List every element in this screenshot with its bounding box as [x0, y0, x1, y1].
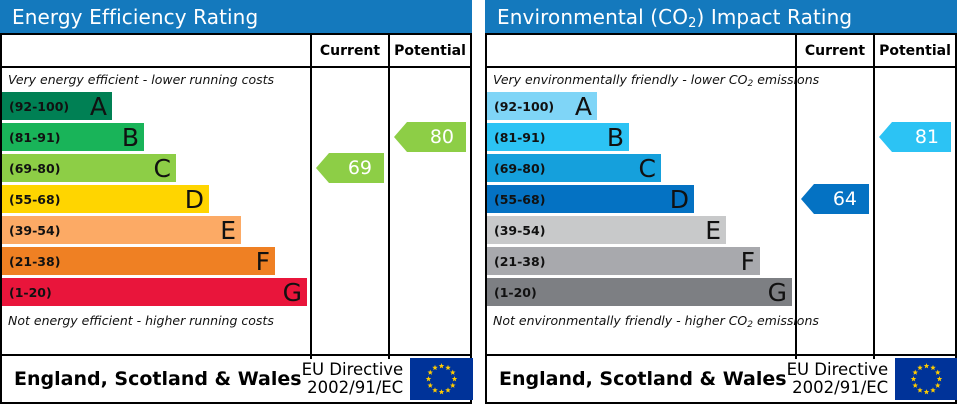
table-body: Very energy efficient - lower running co… — [2, 68, 470, 359]
header-blank-cell — [2, 35, 310, 66]
band-row-d: (55-68)D — [2, 185, 209, 213]
band-row-f: (21-38)F — [487, 247, 760, 275]
band-letter-label: D — [185, 187, 204, 212]
eu-flag-icon — [410, 358, 473, 400]
band-range-label: (92-100) — [9, 99, 69, 114]
note-bottom: Not environmentally friendly - higher CO… — [487, 309, 795, 331]
band-bar-e: (39-54)E — [2, 216, 241, 244]
band-letter-label: D — [670, 187, 689, 212]
band-bar-c: (69-80)C — [487, 154, 661, 182]
table-header-row: Current Potential — [487, 35, 955, 68]
band-letter-label: C — [154, 156, 171, 181]
note-bottom: Not energy efficient - higher running co… — [2, 309, 310, 331]
band-range-label: (39-54) — [9, 223, 60, 238]
header-current: Current — [310, 35, 388, 66]
eu-flag-icon — [895, 358, 957, 400]
epc-charts-page: Energy Efficiency Rating Current Potenti… — [0, 0, 957, 404]
rating-table: Current Potential Very environmentally f… — [485, 33, 957, 404]
band-letter-label: A — [90, 94, 107, 119]
band-range-label: (21-38) — [494, 254, 545, 269]
potential-rating-arrow: 80 — [394, 122, 466, 152]
note-top: Very environmentally friendly - lower CO… — [487, 68, 795, 90]
band-row-a: (92-100)A — [2, 92, 112, 120]
band-letter-label: B — [122, 125, 139, 150]
band-range-label: (92-100) — [494, 99, 554, 114]
rating-table: Current Potential Very energy efficient … — [0, 33, 472, 404]
table-header-row: Current Potential — [2, 35, 470, 68]
chart-title-bar: Environmental (CO2) Impact Rating — [485, 0, 957, 33]
environmental-impact-chart: Environmental (CO2) Impact Rating Curren… — [485, 0, 957, 404]
band-letter-label: F — [741, 249, 755, 274]
chart-title-bar: Energy Efficiency Rating — [0, 0, 472, 33]
header-current: Current — [795, 35, 873, 66]
band-row-e: (39-54)E — [487, 216, 726, 244]
band-range-label: (1-20) — [9, 285, 52, 300]
band-range-label: (81-91) — [9, 130, 60, 145]
page-title: Energy Efficiency Rating — [12, 7, 258, 27]
band-bar-a: (92-100)A — [2, 92, 112, 120]
band-letter-label: E — [220, 218, 236, 243]
band-bar-b: (81-91)B — [2, 123, 144, 151]
band-row-b: (81-91)B — [2, 123, 144, 151]
potential-rating-value: 81 — [915, 126, 939, 148]
directive-label: EU Directive2002/91/EC — [787, 361, 896, 397]
band-bar-d: (55-68)D — [487, 185, 694, 213]
band-letter-label: G — [283, 280, 302, 305]
band-row-d: (55-68)D — [487, 185, 694, 213]
band-range-label: (21-38) — [9, 254, 60, 269]
bands-area: (92-100)A(81-91)B(69-80)C(55-68)D(39-54)… — [487, 90, 795, 309]
band-bar-g: (1-20)G — [487, 278, 792, 306]
header-potential: Potential — [388, 35, 470, 66]
band-letter-label: B — [607, 125, 624, 150]
table-body: Very environmentally friendly - lower CO… — [487, 68, 955, 359]
header-blank-cell — [487, 35, 795, 66]
current-rating-value: 69 — [348, 157, 372, 179]
band-range-label: (39-54) — [494, 223, 545, 238]
band-bar-d: (55-68)D — [2, 185, 209, 213]
band-range-label: (69-80) — [9, 161, 60, 176]
region-label: England, Scotland & Wales — [487, 368, 787, 390]
band-bar-f: (21-38)F — [2, 247, 275, 275]
band-row-e: (39-54)E — [2, 216, 241, 244]
band-range-label: (55-68) — [494, 192, 545, 207]
current-rating-arrow: 69 — [316, 153, 384, 183]
band-range-label: (69-80) — [494, 161, 545, 176]
band-row-c: (69-80)C — [2, 154, 176, 182]
note-top: Very energy efficient - lower running co… — [2, 68, 310, 90]
band-bar-g: (1-20)G — [2, 278, 307, 306]
header-potential: Potential — [873, 35, 955, 66]
page-title: Environmental (CO2) Impact Rating — [497, 7, 852, 27]
band-range-label: (1-20) — [494, 285, 537, 300]
band-bar-b: (81-91)B — [487, 123, 629, 151]
potential-rating-arrow: 81 — [879, 122, 951, 152]
band-row-a: (92-100)A — [487, 92, 597, 120]
band-letter-label: F — [256, 249, 270, 274]
note-top-text: Very environmentally friendly - lower CO… — [487, 72, 819, 87]
energy-efficiency-chart: Energy Efficiency Rating Current Potenti… — [0, 0, 472, 404]
current-rating-arrow: 64 — [801, 184, 869, 214]
band-row-b: (81-91)B — [487, 123, 629, 151]
band-bar-f: (21-38)F — [487, 247, 760, 275]
potential-rating-value: 80 — [430, 126, 454, 148]
band-row-f: (21-38)F — [2, 247, 275, 275]
band-row-g: (1-20)G — [487, 278, 792, 306]
band-bar-e: (39-54)E — [487, 216, 726, 244]
band-range-label: (81-91) — [494, 130, 545, 145]
note-bottom-text: Not environmentally friendly - higher CO… — [487, 313, 819, 328]
column-divider-potential — [388, 68, 390, 359]
band-row-c: (69-80)C — [487, 154, 661, 182]
column-divider-potential — [873, 68, 875, 359]
column-divider-current — [310, 68, 312, 359]
column-divider-current — [795, 68, 797, 359]
band-range-label: (55-68) — [9, 192, 60, 207]
directive-label: EU Directive2002/91/EC — [302, 361, 411, 397]
chart-footer: England, Scotland & Wales EU Directive20… — [487, 354, 955, 402]
band-row-g: (1-20)G — [2, 278, 307, 306]
band-letter-label: G — [768, 280, 787, 305]
current-rating-value: 64 — [833, 188, 857, 210]
band-bar-c: (69-80)C — [2, 154, 176, 182]
band-letter-label: C — [639, 156, 656, 181]
band-letter-label: E — [705, 218, 721, 243]
region-label: England, Scotland & Wales — [2, 368, 302, 390]
band-bar-a: (92-100)A — [487, 92, 597, 120]
chart-footer: England, Scotland & Wales EU Directive20… — [2, 354, 470, 402]
bands-area: (92-100)A(81-91)B(69-80)C(55-68)D(39-54)… — [2, 90, 310, 309]
band-letter-label: A — [575, 94, 592, 119]
